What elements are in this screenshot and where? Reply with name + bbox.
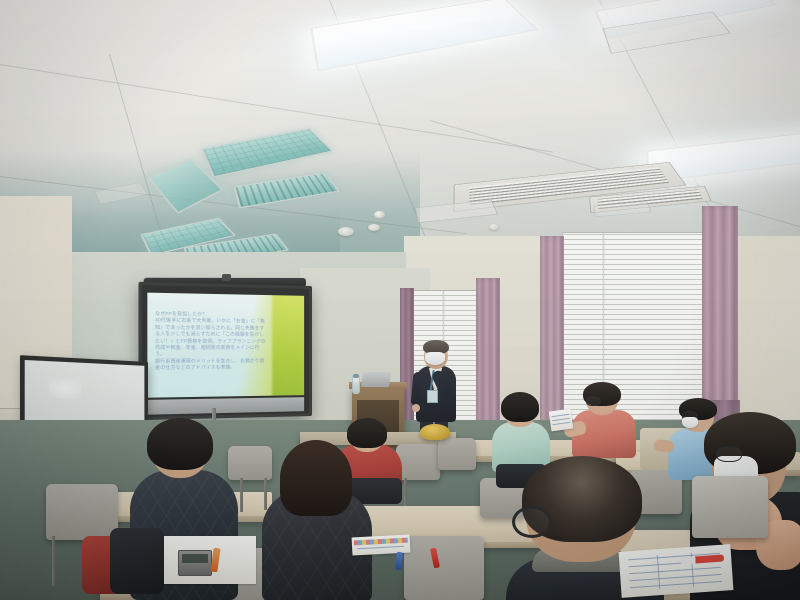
chair[interactable] <box>404 536 484 600</box>
handout-paper[interactable] <box>549 409 574 432</box>
water-bottle-icon <box>352 376 360 394</box>
attendee-front-left-2-hair <box>280 440 352 516</box>
projector-mount-icon <box>222 274 231 281</box>
ceiling-speaker-icon <box>338 227 354 236</box>
name-badge-icon <box>427 390 438 403</box>
attendee-front-left-2 <box>262 440 374 600</box>
projection-screen-surface: なぜFPを目指したか？ 40代後半にお金で大失敗、いかに「お金」に「無知」であっ… <box>147 293 304 398</box>
laptop-icon[interactable] <box>361 372 391 387</box>
glasses-icon <box>716 446 742 462</box>
face-mask-icon <box>425 352 445 365</box>
projection-screen: なぜFPを目指したか？ 40代後半にお金で大失敗、いかに「お金」に「無知」であっ… <box>138 282 312 420</box>
attendee-front-left-hair <box>147 418 213 470</box>
glasses-icon <box>586 396 601 406</box>
worksheet-form[interactable] <box>619 544 734 598</box>
photo-scene: なぜFPを目指したか？ 40代後半にお金で大失敗、いかに「お金」に「無知」であっ… <box>0 0 800 600</box>
whiteboard-glare <box>49 378 82 399</box>
screen-bottom-bar <box>147 397 304 415</box>
smoke-detector-icon <box>374 211 385 218</box>
chair-leg <box>240 478 243 512</box>
slide-text: なぜFPを目指したか？ 40代後半にお金で大失敗、いかに「お金」に「無知」であっ… <box>155 311 268 372</box>
chair-back-foreground[interactable] <box>692 476 768 538</box>
slide-accent-shape <box>272 293 304 398</box>
chair[interactable] <box>46 484 118 540</box>
floor-bag-icon <box>110 528 164 594</box>
ceiling-speaker-icon <box>489 224 499 230</box>
calculator-icon[interactable] <box>178 550 212 576</box>
chair-leg <box>52 536 55 586</box>
chair[interactable] <box>438 438 476 470</box>
attendee-mint-hair <box>501 392 539 422</box>
ceiling-speaker-icon <box>368 224 380 231</box>
glasses-icon <box>512 506 552 538</box>
gold-object-icon <box>420 424 450 440</box>
